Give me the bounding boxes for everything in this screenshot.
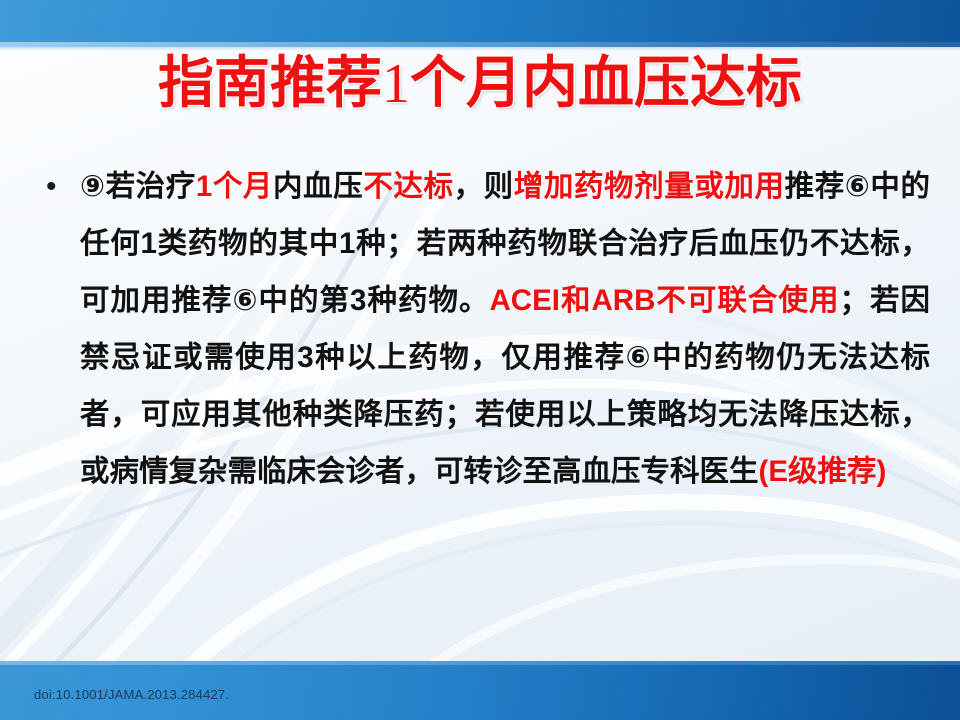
body-paragraph: ⑨若治疗1个月内血压不达标，则增加药物剂量或加用推荐⑥中的任何1类药物的其中1种… [80,158,930,500]
top-banner-bar [0,0,960,42]
body-bullet-block: • ⑨若治疗1个月内血压不达标，则增加药物剂量或加用推荐⑥中的任何1类药物的其中… [34,158,930,500]
bullet-marker: • [34,158,80,215]
body-run-1: 1个月 [196,170,273,203]
slide-canvas: 指南推荐1个月内血压达标 • ⑨若治疗1个月内血压不达标，则增加药物剂量或加用推… [0,0,960,720]
doi-citation: doi:10.1001/JAMA.2013.284427. [34,687,229,702]
page-title: 指南推荐1个月内血压达标 [0,54,960,114]
body-run-0: ⑨若治疗 [80,170,196,203]
body-run-5: 增加药物剂量或加用 [514,170,785,203]
body-run-3: 不达标 [363,170,453,203]
body-run-2: 内血压 [273,170,363,203]
title-suffix: 个月内血压达标 [410,51,802,114]
body-run-7: ACEI和ARB不可联合使用 [490,284,840,317]
body-run-9: (E级推荐) [759,455,887,488]
body-run-4: ，则 [454,170,514,203]
title-prefix: 指南推荐 [158,51,382,114]
title-number: 1 [382,53,410,115]
